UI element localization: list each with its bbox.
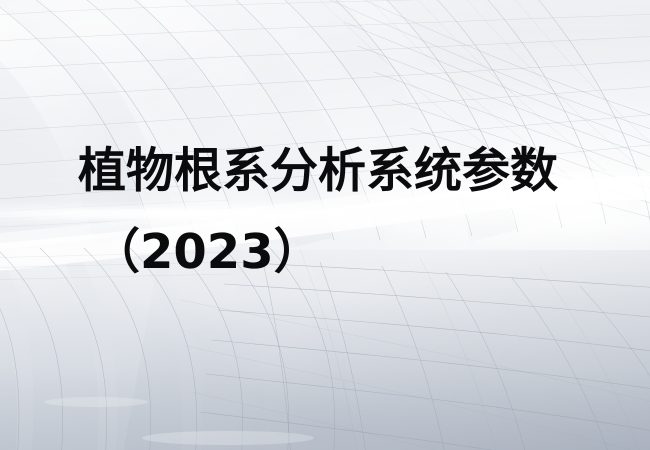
title-line-primary: 植物根系分析系统参数 xyxy=(78,147,558,195)
title-block: 植物根系分析系统参数 （2023） xyxy=(0,0,650,450)
title-line-year: （2023） xyxy=(92,228,322,276)
slide-canvas: 植物根系分析系统参数 （2023） xyxy=(0,0,650,450)
